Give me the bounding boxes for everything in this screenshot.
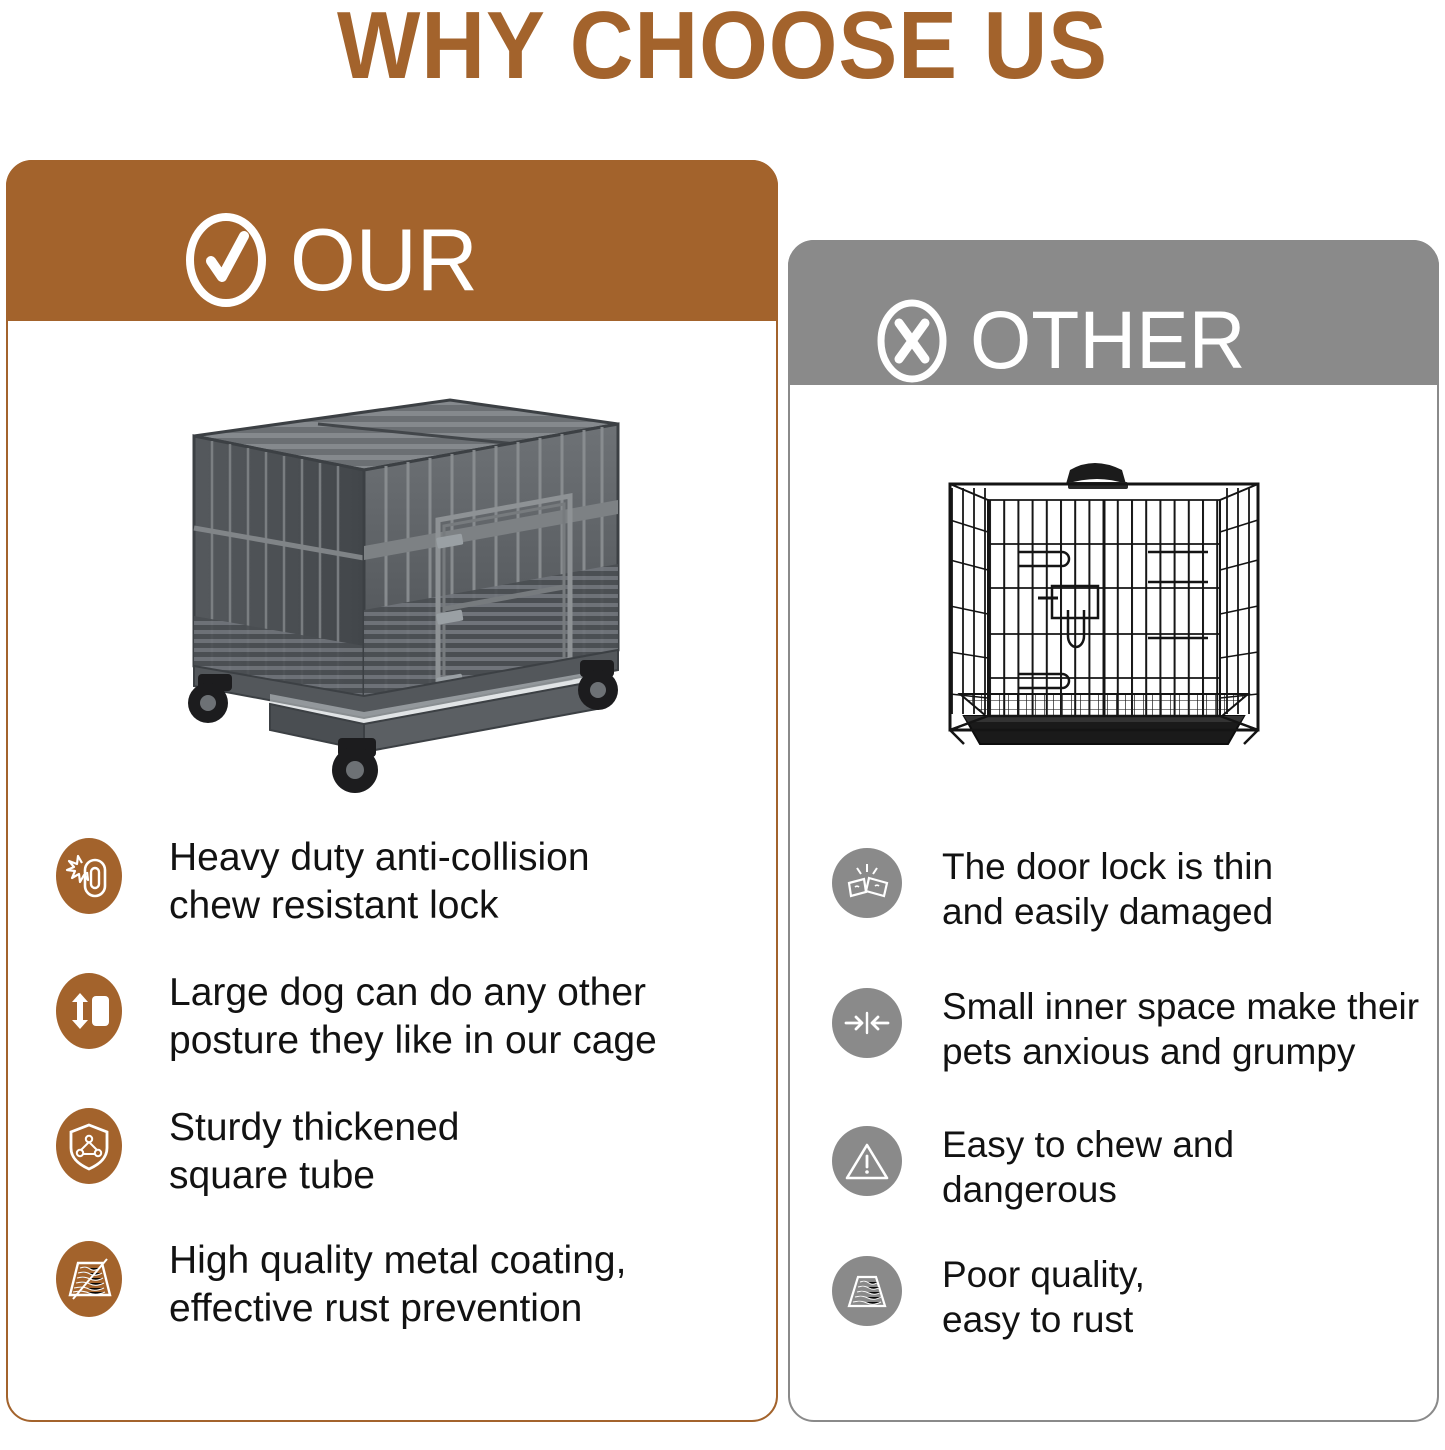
list-item-label: Poor quality, easy to rust (942, 1252, 1145, 1342)
rusted-surface-icon (832, 1256, 902, 1326)
other-comparison-card (788, 240, 1439, 1422)
list-item-label: The door lock is thin and easily damaged (942, 844, 1273, 934)
other-label: OTHER (970, 300, 1246, 382)
list-item-label: Small inner space make their pets anxiou… (942, 984, 1419, 1074)
warning-triangle-icon (832, 1126, 902, 1196)
check-circle-icon (180, 209, 272, 311)
compress-arrows-icon (832, 988, 902, 1058)
broken-lock-icon (832, 848, 902, 918)
infographic-page: WHY CHOOSE US OUR OTHER (0, 0, 1445, 1450)
our-header-band: OUR (6, 160, 778, 321)
impact-resistant-lock-icon (56, 838, 122, 914)
list-item-label: Heavy duty anti-collision chew resistant… (169, 834, 590, 929)
list-item-label: Easy to chew and dangerous (942, 1122, 1234, 1212)
list-item: Poor quality, easy to rust (832, 1256, 1422, 1342)
list-item: Sturdy thickened square tube (56, 1108, 756, 1199)
other-product-image (918, 448, 1290, 764)
page-title: WHY CHOOSE US (58, 0, 1387, 97)
list-item-label: Sturdy thickened square tube (169, 1104, 460, 1199)
list-item: Small inner space make their pets anxiou… (832, 988, 1422, 1074)
other-header-band: OTHER (788, 240, 1439, 385)
shield-structure-icon (56, 1108, 122, 1184)
list-item: Heavy duty anti-collision chew resistant… (56, 838, 756, 929)
list-item: Large dog can do any other posture they … (56, 973, 756, 1064)
list-item: High quality metal coating, effective ru… (56, 1241, 756, 1332)
list-item-label: Large dog can do any other posture they … (169, 969, 657, 1064)
list-item-label: High quality metal coating, effective ru… (169, 1237, 626, 1332)
list-item: Easy to chew and dangerous (832, 1126, 1422, 1212)
list-item: The door lock is thin and easily damaged (832, 848, 1422, 934)
our-label: OUR (290, 216, 478, 304)
our-product-image (150, 378, 630, 798)
x-circle-icon (872, 295, 952, 387)
vertical-space-arrow-icon (56, 973, 122, 1049)
metal-coating-icon (56, 1241, 122, 1317)
